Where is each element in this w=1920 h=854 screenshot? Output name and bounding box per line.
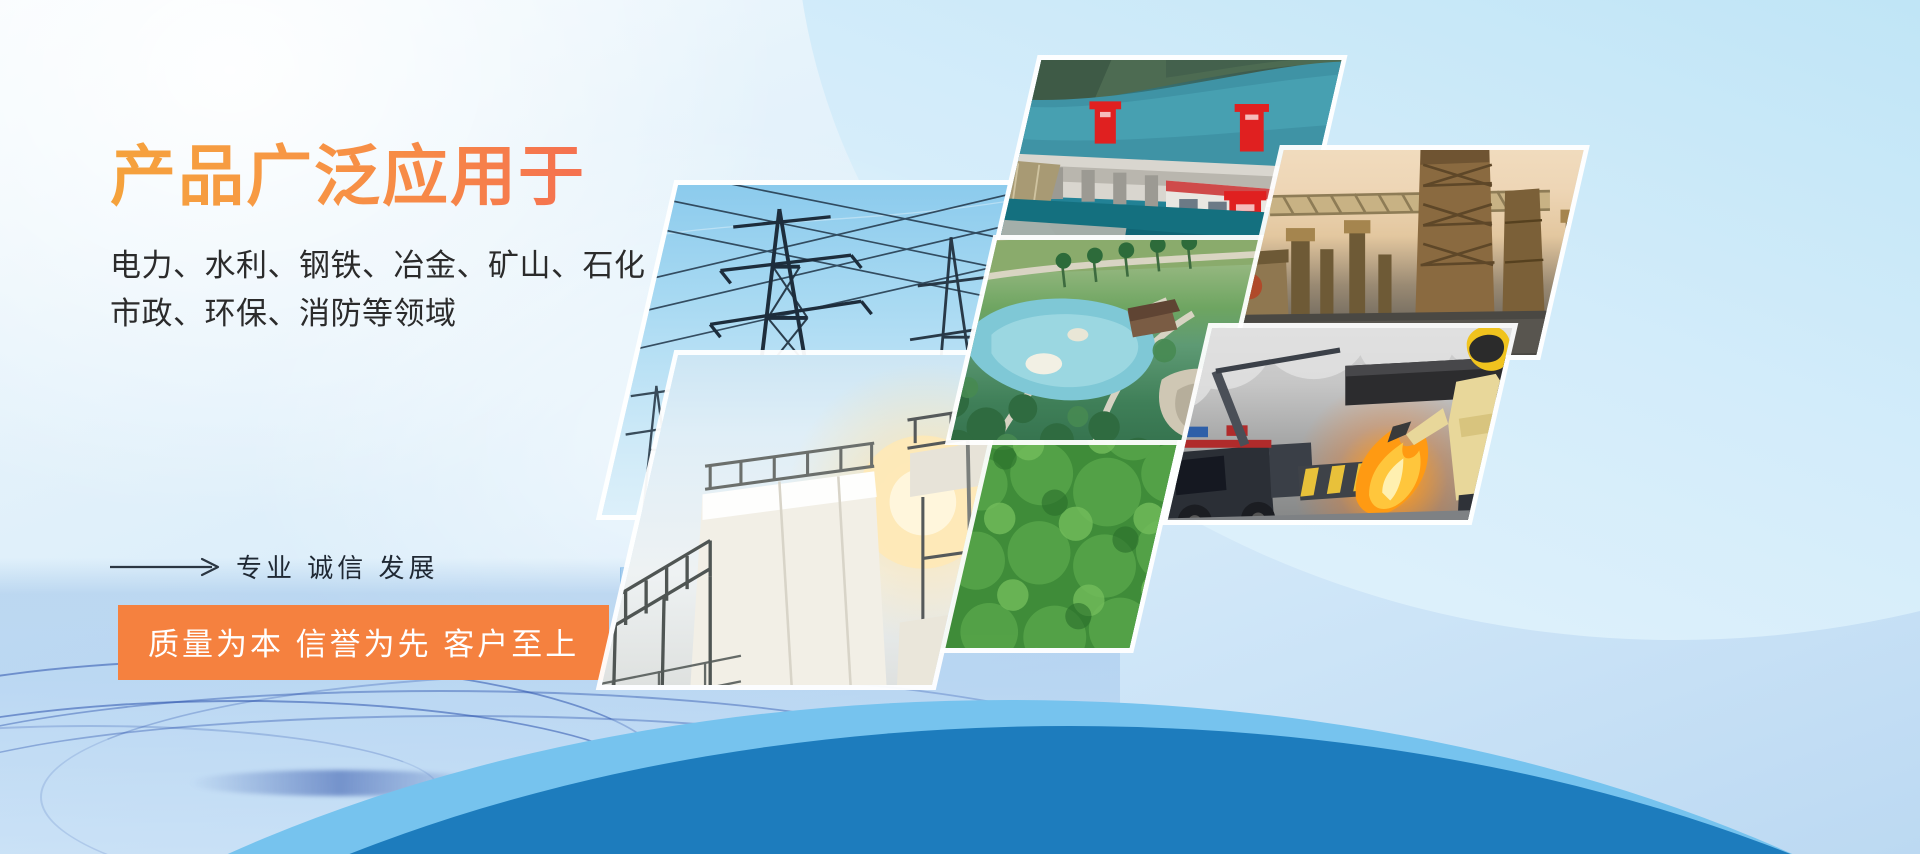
- promotional-banner: 产品广泛应用于 电力、水利、钢铁、冶金、矿山、石化 市政、环保、消防等领域 专业…: [0, 0, 1920, 854]
- subtitle-block: 电力、水利、钢铁、冶金、矿山、石化 市政、环保、消防等领域: [110, 242, 750, 338]
- headline-block: 产品广泛应用于 电力、水利、钢铁、冶金、矿山、石化 市政、环保、消防等领域: [110, 140, 750, 338]
- steel-metallurgy-plant-photo[interactable]: [1236, 150, 1583, 355]
- industry-photo-collage: [620, 0, 1920, 700]
- firefighter-training-photo[interactable]: [1168, 328, 1512, 520]
- quality-pledge-badge: 质量为本 信誉为先 客户至上: [118, 605, 609, 680]
- slogan-text: 专业 诚信 发展: [236, 548, 438, 585]
- long-right-arrow-icon: [110, 556, 222, 578]
- page-title: 产品广泛应用于: [110, 140, 750, 214]
- subtitle-line-2: 市政、环保、消防等领域: [110, 290, 750, 338]
- subtitle-line-1: 电力、水利、钢铁、冶金、矿山、石化: [110, 242, 750, 290]
- slogan-row: 专业 诚信 发展: [110, 548, 438, 585]
